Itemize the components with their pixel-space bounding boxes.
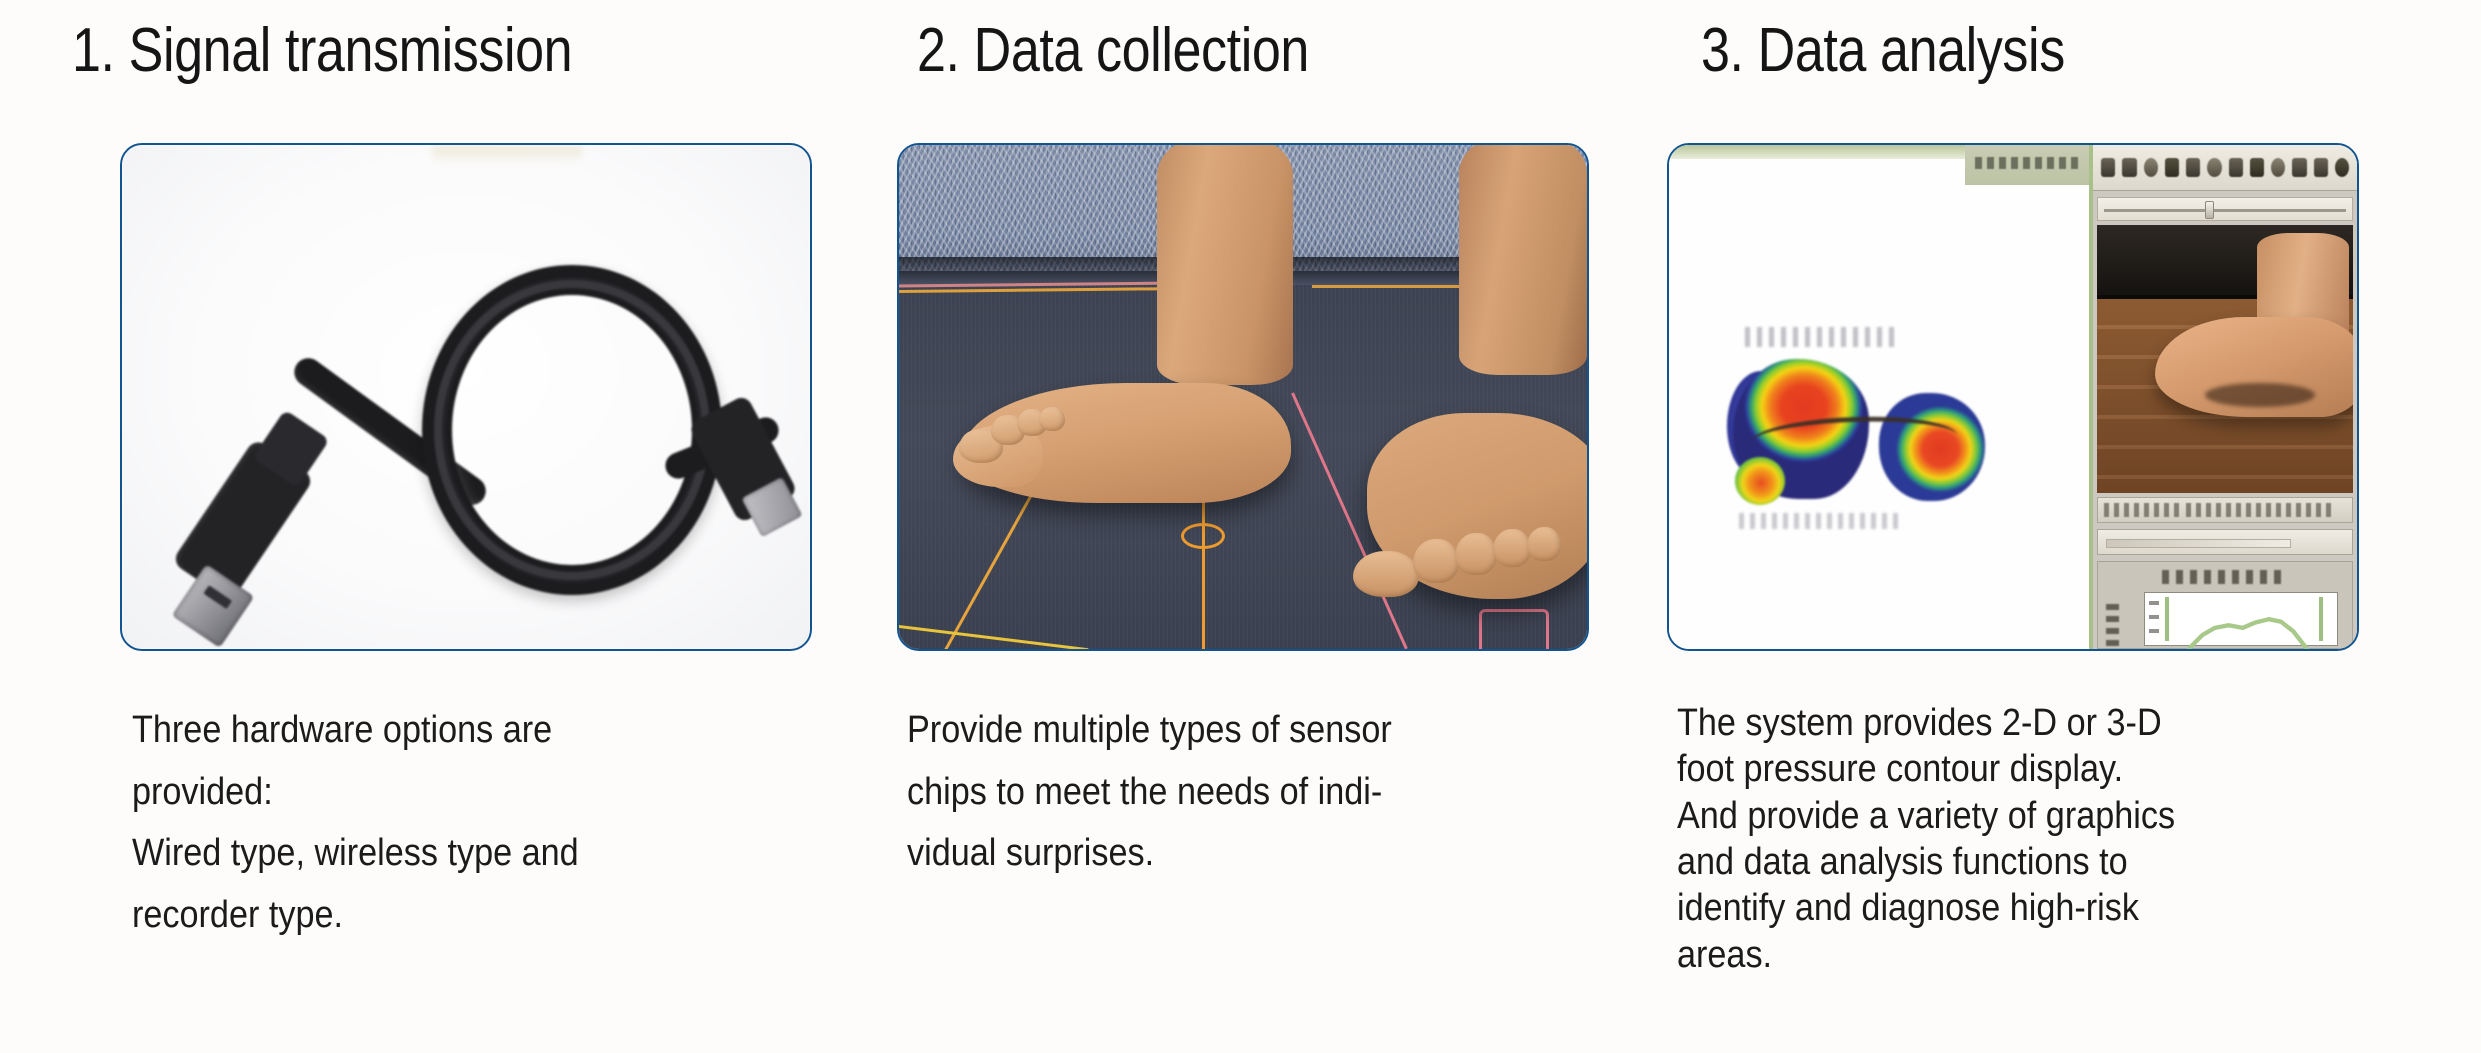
chart-title-placeholder: [2162, 570, 2284, 584]
video-foot-arch-shadow: [2205, 383, 2315, 407]
toolbar-icon-2[interactable]: [2122, 158, 2136, 177]
pressure-map-top-labels: [1745, 327, 1895, 347]
foot-pressure-heatmap: [1727, 357, 1977, 507]
toolbar-icon-11[interactable]: [2314, 158, 2328, 177]
toolbar-icon-3[interactable]: [2144, 158, 2158, 177]
toolbar-icon-6[interactable]: [2207, 158, 2221, 177]
step-1-heading: 1. Signal transmission: [72, 20, 572, 82]
usb-cable-loop: [422, 265, 722, 595]
toolbar-icon-10[interactable]: [2292, 158, 2306, 177]
pressure-mat-scene: [899, 145, 1587, 649]
mat-center-circle-marker: [1181, 523, 1225, 549]
right-foot-toes: [1351, 517, 1586, 603]
chart-plot-area: [2144, 592, 2338, 646]
feet-on-pressure-mat-photo: [899, 145, 1587, 649]
panel-top-band: [1669, 145, 1965, 159]
pressure-map-panel: [1669, 145, 2093, 649]
right-leg: [1459, 145, 1587, 375]
toolbar-icon-1[interactable]: [2101, 158, 2115, 177]
usb-cable-scene: [122, 145, 810, 649]
toolbar-icon-7[interactable]: [2229, 158, 2243, 177]
step-3-description: The system provides 2-D or 3-D foot pres…: [1677, 700, 2388, 978]
photo-top-smudge: [432, 145, 582, 163]
step-column-signal-transmission: 1. Signal transmission: [0, 0, 890, 1053]
toolbar-icon-4[interactable]: [2165, 158, 2179, 177]
toolbar-icon-9[interactable]: [2271, 158, 2285, 177]
toolbar-icon-5[interactable]: [2186, 158, 2200, 177]
step-1-image-card: [120, 143, 812, 651]
force-time-chart-panel: [2097, 561, 2353, 649]
heatmap-toe-spot: [1735, 457, 1785, 505]
video-status-bar: [2097, 497, 2353, 523]
video-and-chart-panel: [2093, 145, 2357, 649]
step-3-image-card: [1667, 143, 2359, 651]
infographic-page: 1. Signal transmission: [0, 0, 2481, 1053]
status-bar-field-left: [2104, 503, 2180, 517]
force-time-curve: [2145, 593, 2337, 649]
left-leg: [1157, 145, 1293, 385]
step-3-heading: 3. Data analysis: [1701, 20, 2065, 82]
step-2-image-card: [897, 143, 1589, 651]
toolbar-icon-8[interactable]: [2250, 158, 2264, 177]
toolbar-icon-12[interactable]: [2335, 158, 2349, 177]
pressure-map-bottom-labels: [1739, 513, 1899, 529]
timeline-slider-handle[interactable]: [2205, 201, 2214, 219]
foot-pressure-software-screenshot: [1669, 145, 2357, 649]
usb-a-connector-body: [171, 438, 315, 603]
panel-title-bar: [1965, 145, 2089, 185]
step-1-description: Three hardware options are provided: Wir…: [132, 700, 816, 946]
three-step-columns: 1. Signal transmission: [0, 0, 2481, 1053]
progress-bar-row[interactable]: [2097, 529, 2353, 555]
chart-y-axis-label-placeholder: [2106, 604, 2119, 649]
software-window: [1669, 145, 2357, 649]
panel-title-text-placeholder: [1975, 157, 2083, 169]
left-foot-toes: [957, 407, 1075, 483]
step-column-data-collection: 2. Data collection: [890, 0, 1665, 1053]
foot-video-preview: [2097, 225, 2353, 493]
step-column-data-analysis: 3. Data analysis: [1665, 0, 2481, 1053]
usb-cable-photo: [122, 145, 810, 649]
mat-box-marker: [1479, 609, 1549, 649]
step-2-heading: 2. Data collection: [917, 20, 1309, 82]
status-bar-field-right: [2186, 503, 2336, 517]
step-2-description: Provide multiple types of sensor chips t…: [907, 700, 1591, 885]
software-toolbar: [2093, 145, 2357, 191]
timeline-slider[interactable]: [2097, 197, 2353, 221]
